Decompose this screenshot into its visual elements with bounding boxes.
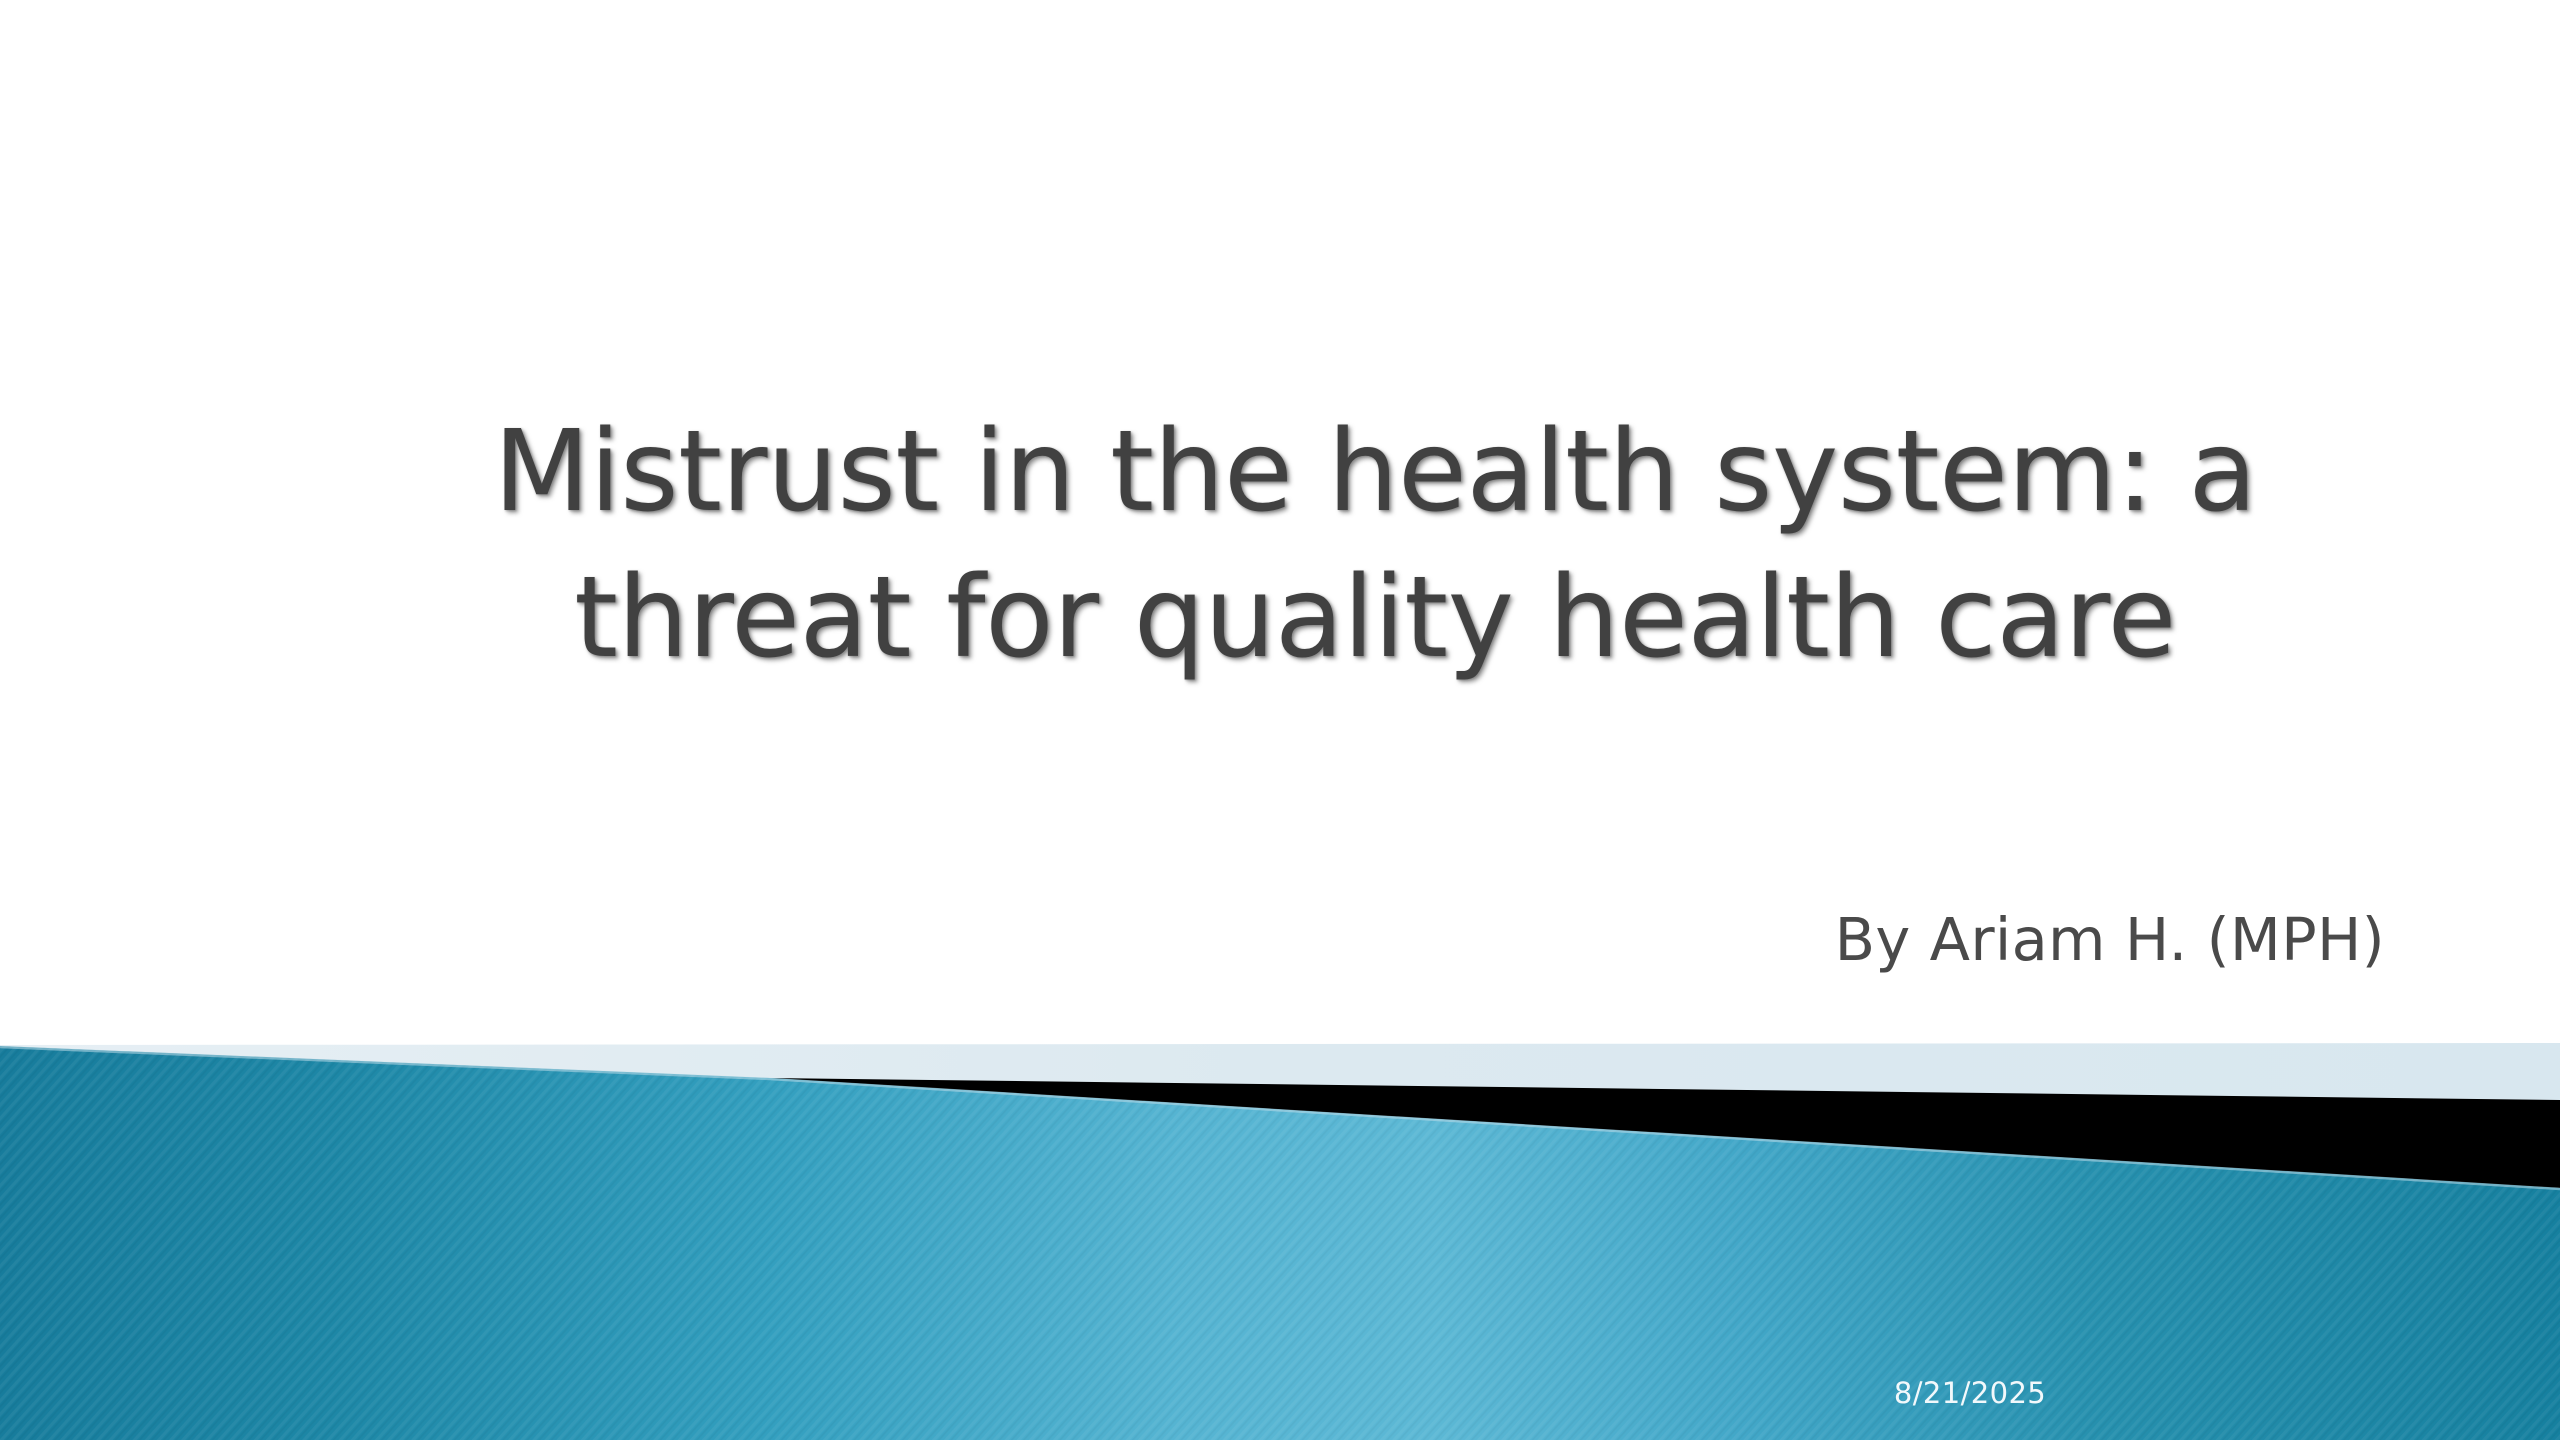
- black-wedge-shape: [770, 1078, 2560, 1188]
- slide-title-text: Mistrust in the health system: a threat …: [330, 400, 2420, 691]
- slide-title: Mistrust in the health system: a threat …: [330, 400, 2420, 691]
- bottom-banner-decoration: [0, 0, 2560, 1440]
- teal-edge-highlight: [0, 1047, 2560, 1189]
- slide-date-placeholder: 8/21/2025: [1760, 1376, 2180, 1410]
- white-mask-slant: [0, 1020, 2560, 1044]
- light-blue-band-shape: [0, 1040, 2560, 1100]
- slide-subtitle-text: By Ariam H. (MPH): [1200, 905, 2385, 976]
- slide-subtitle: By Ariam H. (MPH): [1200, 905, 2385, 976]
- white-mask-above-band: [0, 1020, 2560, 1045]
- slide-date-text: 8/21/2025: [1760, 1376, 2180, 1410]
- title-slide: Mistrust in the health system: a threat …: [0, 0, 2560, 1440]
